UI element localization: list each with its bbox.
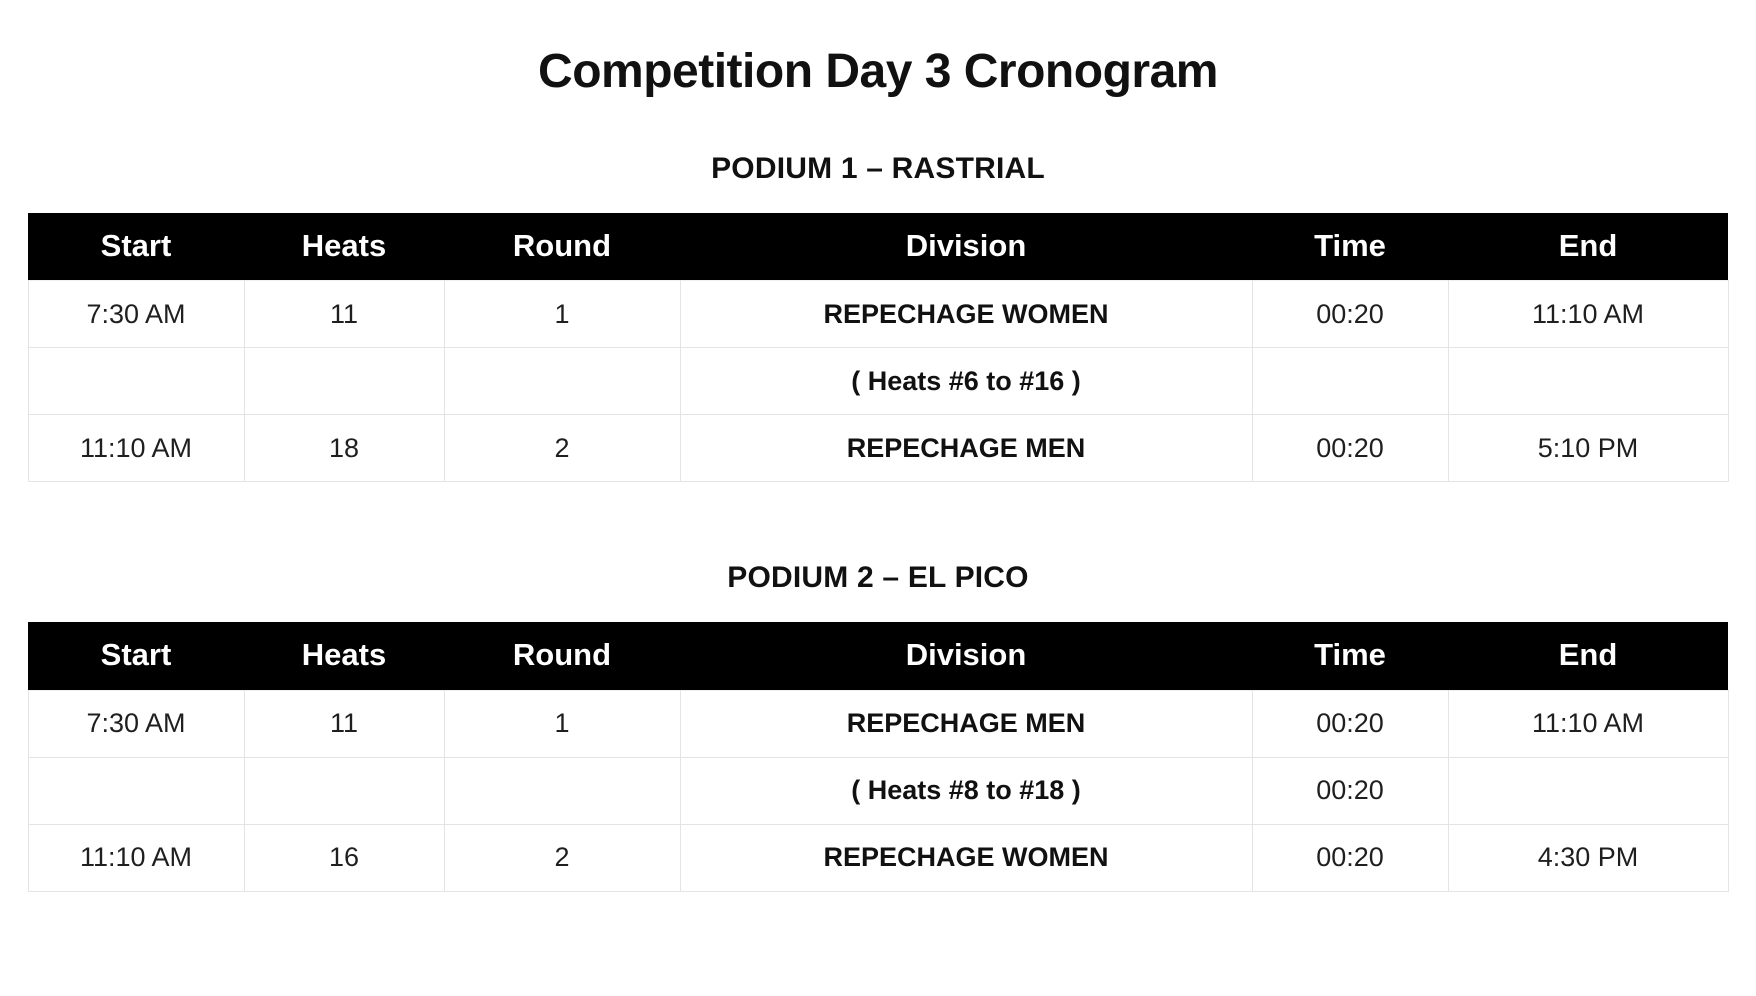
cell-heats: 11 [244,690,444,757]
column-header-round: Round [444,622,680,690]
cell-end [1448,757,1728,824]
table-row: 11:10 AM 16 2 REPECHAGE WOMEN 00:20 4:30… [28,824,1728,891]
cell-division: REPECHAGE WOMEN [680,281,1252,348]
podium-2-section: PODIUM 2 – EL PICO Start Heats Round Div… [0,482,1756,891]
podium-2-table: Start Heats Round Division Time End 7:30… [28,622,1729,891]
cell-end: 11:10 AM [1448,690,1728,757]
column-header-heats: Heats [244,213,444,281]
cell-end: 4:30 PM [1448,824,1728,891]
table-header-row: Start Heats Round Division Time End [28,213,1728,281]
column-header-time: Time [1252,213,1448,281]
podium-1-heading: PODIUM 1 – RASTRIAL [0,99,1756,187]
cell-round [444,348,680,415]
podium-2-heading: PODIUM 2 – EL PICO [0,482,1756,596]
cell-division: REPECHAGE MEN [680,690,1252,757]
cell-round [444,757,680,824]
podium-2-table-body: 7:30 AM 11 1 REPECHAGE MEN 00:20 11:10 A… [28,690,1728,891]
cell-time: 00:20 [1252,757,1448,824]
column-header-division: Division [680,622,1252,690]
cell-start: 11:10 AM [28,824,244,891]
table-row: 11:10 AM 18 2 REPECHAGE MEN 00:20 5:10 P… [28,415,1728,482]
cell-end: 11:10 AM [1448,281,1728,348]
cell-time [1252,348,1448,415]
table-header-row: Start Heats Round Division Time End [28,622,1728,690]
column-header-heats: Heats [244,622,444,690]
cell-end: 5:10 PM [1448,415,1728,482]
cell-division: ( Heats #6 to #16 ) [680,348,1252,415]
cronogram-page: Competition Day 3 Cronogram PODIUM 1 – R… [0,0,1756,996]
cell-round: 2 [444,824,680,891]
cell-division: REPECHAGE WOMEN [680,824,1252,891]
table-row: 7:30 AM 11 1 REPECHAGE MEN 00:20 11:10 A… [28,690,1728,757]
cell-time: 00:20 [1252,415,1448,482]
cell-time: 00:20 [1252,824,1448,891]
cell-start [28,757,244,824]
cell-heats: 18 [244,415,444,482]
podium-1-table: Start Heats Round Division Time End 7:30… [28,213,1729,482]
cell-start: 7:30 AM [28,281,244,348]
cell-division: REPECHAGE MEN [680,415,1252,482]
page-title: Competition Day 3 Cronogram [0,0,1756,99]
cell-start [28,348,244,415]
cell-start: 7:30 AM [28,690,244,757]
podium-1-section: PODIUM 1 – RASTRIAL Start Heats Round Di… [0,99,1756,482]
cell-start: 11:10 AM [28,415,244,482]
cell-end [1448,348,1728,415]
podium-1-table-body: 7:30 AM 11 1 REPECHAGE WOMEN 00:20 11:10… [28,281,1728,482]
podium-1-table-header: Start Heats Round Division Time End [28,213,1728,281]
cell-time: 00:20 [1252,690,1448,757]
cell-heats: 16 [244,824,444,891]
cell-heats [244,348,444,415]
cell-round: 1 [444,281,680,348]
column-header-division: Division [680,213,1252,281]
podium-2-table-header: Start Heats Round Division Time End [28,622,1728,690]
table-row: ( Heats #8 to #18 ) 00:20 [28,757,1728,824]
cell-heats: 11 [244,281,444,348]
cell-round: 2 [444,415,680,482]
column-header-start: Start [28,213,244,281]
cell-heats [244,757,444,824]
column-header-time: Time [1252,622,1448,690]
column-header-end: End [1448,622,1728,690]
column-header-start: Start [28,622,244,690]
cell-division: ( Heats #8 to #18 ) [680,757,1252,824]
table-row: 7:30 AM 11 1 REPECHAGE WOMEN 00:20 11:10… [28,281,1728,348]
cell-time: 00:20 [1252,281,1448,348]
cell-round: 1 [444,690,680,757]
column-header-end: End [1448,213,1728,281]
column-header-round: Round [444,213,680,281]
table-row: ( Heats #6 to #16 ) [28,348,1728,415]
